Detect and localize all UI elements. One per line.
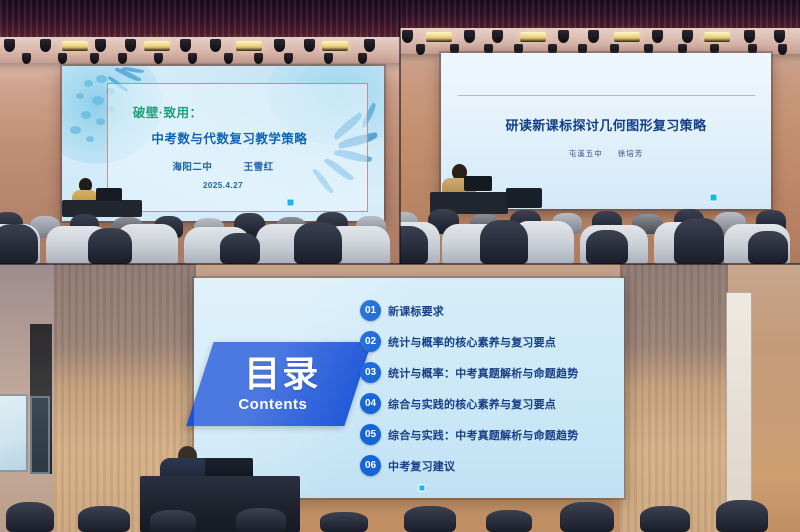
- toc-number: 03: [360, 362, 381, 383]
- contents-badge: 目录 Contents: [186, 342, 371, 426]
- slide-title-line1: 破壁·致用：: [62, 102, 384, 121]
- wall-vent-panel: [726, 292, 752, 522]
- toc-item[interactable]: 02 统计与概率的核心素养与复习要点: [360, 331, 616, 352]
- toc-item[interactable]: 01 新课标要求: [360, 300, 616, 321]
- panel-divider-vertical: [399, 0, 401, 264]
- toc-item[interactable]: 03 统计与概率：中考真题解析与命题趋势: [360, 362, 616, 383]
- toc-item[interactable]: 05 综合与实践：中考真题解析与命题趋势: [360, 424, 616, 445]
- ceiling-light-rail: [400, 28, 800, 54]
- photo-panel-bottom: 安全出口 目录 Contents 01 新课标要求 02 统计与概率的核心素养与…: [0, 264, 800, 532]
- slide-byline: 海阳二中 王雪红: [62, 159, 384, 173]
- audience-row-front: [400, 218, 800, 264]
- audience-row-front: [0, 490, 800, 532]
- toc-number: 04: [360, 393, 381, 414]
- slide-presenter: 徐培芳: [612, 149, 650, 158]
- slide-divider: [458, 95, 755, 96]
- slide-school: 海阳二中: [158, 162, 226, 173]
- photo-collage: 破壁·致用： 中考数与代数复习教学策略 海阳二中 王雪红 2025.4.27: [0, 0, 800, 532]
- photo-panel-top-left: 破壁·致用： 中考数与代数复习教学策略 海阳二中 王雪红 2025.4.27: [0, 0, 400, 264]
- app-logo-chip-icon: [709, 193, 718, 202]
- toc-label: 中考复习建议: [388, 458, 455, 474]
- ceiling-light-rail: [0, 37, 400, 63]
- laptop: [464, 176, 492, 191]
- toc-label: 综合与实践：中考真题解析与命题趋势: [388, 427, 578, 443]
- toc-label: 新课标要求: [388, 303, 444, 319]
- stage-curtain: [0, 0, 400, 42]
- toc-number: 01: [360, 300, 381, 321]
- toc-item[interactable]: 04 综合与实践的核心素养与复习要点: [360, 393, 616, 414]
- projection-screen-bottom: 目录 Contents 01 新课标要求 02 统计与概率的核心素养与复习要点 …: [194, 278, 624, 498]
- toc-item[interactable]: 06 中考复习建议: [360, 455, 616, 476]
- whiteboard: [0, 394, 28, 472]
- table-of-contents: 01 新课标要求 02 统计与概率的核心素养与复习要点 03 统计与概率：中考真…: [360, 294, 616, 486]
- slide-title: 研读新课标探讨几何图形复习策略: [441, 115, 771, 134]
- contents-badge-cn: 目录: [244, 356, 320, 392]
- toc-label: 综合与实践的核心素养与复习要点: [388, 396, 556, 412]
- toc-label: 统计与概率：中考真题解析与命题趋势: [388, 365, 578, 381]
- blackboard: [30, 396, 50, 474]
- slide-presenter: 王雪红: [230, 162, 288, 173]
- toc-number: 05: [360, 424, 381, 445]
- toc-label: 统计与概率的核心素养与复习要点: [388, 334, 556, 350]
- slide-byline: 屯溪五中 徐培芳: [441, 148, 771, 159]
- panel-divider-horizontal: [0, 263, 800, 265]
- contents-badge-en: Contents: [238, 396, 307, 413]
- slide-school: 屯溪五中: [563, 149, 609, 158]
- toc-number: 02: [360, 331, 381, 352]
- laptop: [96, 188, 122, 201]
- toc-number: 06: [360, 455, 381, 476]
- audience-row-front: [0, 220, 400, 264]
- photo-panel-top-right: 研读新课标探讨几何图形复习策略 屯溪五中 徐培芳: [400, 0, 800, 264]
- slide-title-line2: 中考数与代数复习教学策略: [62, 128, 384, 147]
- leaf-decor-icon: [84, 80, 93, 87]
